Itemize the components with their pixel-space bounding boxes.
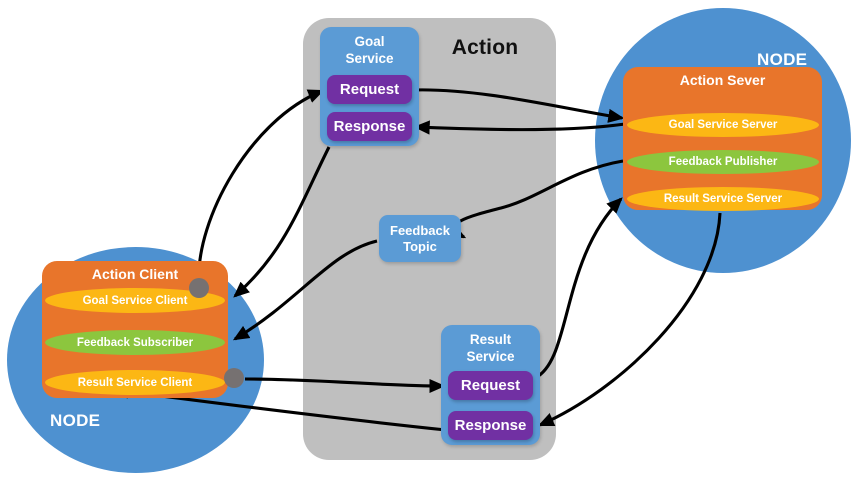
result-service-title-line1: Result	[470, 332, 511, 347]
pill-feedback-subscriber[interactable]: Feedback Subscriber	[45, 330, 225, 355]
goal-client-connector-dot	[189, 278, 209, 298]
arrow-goal-response-to-client	[235, 147, 329, 296]
client-node-label: NODE	[50, 411, 100, 431]
arrow-result-request-to-server	[535, 199, 621, 378]
goal-service-response[interactable]: Response	[327, 112, 412, 141]
action-server-title: Action Sever	[623, 72, 822, 88]
result-service-title-line2: Service	[466, 349, 514, 364]
server-node-label: NODE	[757, 50, 807, 70]
feedback-topic-line1: Feedback	[390, 223, 450, 238]
goal-service-title-line1: Goal	[354, 34, 384, 49]
arrow-feedback-topic-to-subscriber	[235, 241, 377, 339]
arrow-feedback-publisher-to-topic	[454, 161, 623, 237]
result-service-title: Result Service	[441, 331, 540, 365]
arrow-goal-client-to-request	[199, 91, 322, 281]
pill-result-service-server[interactable]: Result Service Server	[627, 187, 819, 211]
result-service-response[interactable]: Response	[448, 411, 533, 440]
pill-goal-service-server[interactable]: Goal Service Server	[627, 113, 819, 137]
arrow-goal-request-to-server	[413, 90, 622, 118]
feedback-topic-text: Feedback Topic	[390, 223, 450, 255]
pill-result-service-client[interactable]: Result Service Client	[45, 370, 225, 395]
arrow-goal-server-to-response	[416, 124, 625, 130]
pill-feedback-publisher[interactable]: Feedback Publisher	[627, 150, 819, 174]
goal-service-title-line2: Service	[345, 51, 393, 66]
result-client-connector-dot	[224, 368, 244, 388]
feedback-topic-line2: Topic	[403, 239, 437, 254]
diagram-canvas: Action	[0, 0, 854, 480]
feedback-topic-box[interactable]: Feedback Topic	[379, 215, 461, 262]
arrow-result-client-to-request	[245, 379, 443, 386]
result-service-request[interactable]: Request	[448, 371, 533, 400]
arrow-result-server-to-response	[540, 213, 720, 425]
goal-service-title: Goal Service	[320, 33, 419, 67]
goal-service-request[interactable]: Request	[327, 75, 412, 104]
